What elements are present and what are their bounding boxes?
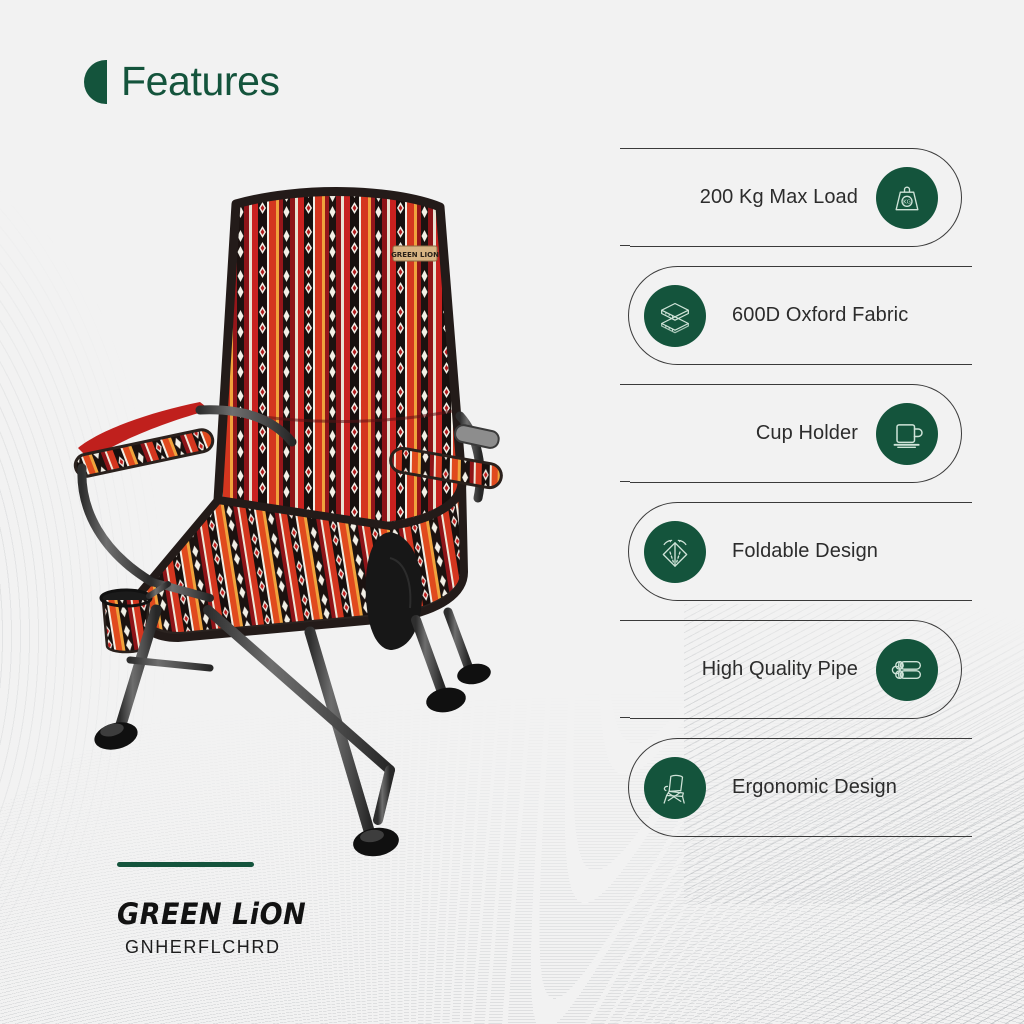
feature-label: 200 Kg Max Load: [700, 186, 858, 209]
feature-label: 600D Oxford Fabric: [732, 304, 908, 327]
brand-footer: GREEN LiON GNHERFLCHRD: [117, 862, 320, 958]
svg-text:KG: KG: [903, 199, 911, 205]
camp-chair-icon: [644, 757, 706, 819]
mug-icon: [876, 403, 938, 465]
feature-row[interactable]: 200 Kg Max Load KG: [620, 148, 960, 247]
feature-row[interactable]: High Quality Pipe: [620, 620, 960, 719]
feature-label: Foldable Design: [732, 540, 878, 563]
feature-row[interactable]: Ergonomic Design: [620, 738, 960, 837]
page-title: Features: [121, 58, 280, 105]
page-header: Features: [84, 58, 280, 105]
product-image-camping-chair: GREEN LION: [60, 180, 560, 880]
feature-row[interactable]: Foldable Design: [620, 502, 960, 601]
brand-name: GREEN LiON: [117, 897, 306, 931]
feature-label: Cup Holder: [756, 422, 858, 445]
brand-divider: [117, 862, 254, 867]
half-circle-bullet-icon: [84, 60, 107, 104]
stacked-pipes-icon: [876, 639, 938, 701]
features-list: 200 Kg Max Load KG: [620, 148, 960, 856]
product-model-code: GNHERFLCHRD: [125, 937, 320, 958]
weight-kg-icon: KG: [876, 167, 938, 229]
svg-text:GREEN LION: GREEN LION: [391, 251, 439, 259]
feature-row[interactable]: Cup Holder: [620, 384, 960, 483]
fabric-layers-icon: [644, 285, 706, 347]
feature-row[interactable]: 600D Oxford Fabric: [620, 266, 960, 365]
feature-label: High Quality Pipe: [702, 658, 858, 681]
feature-label: Ergonomic Design: [732, 776, 897, 799]
fold-diamond-icon: [644, 521, 706, 583]
